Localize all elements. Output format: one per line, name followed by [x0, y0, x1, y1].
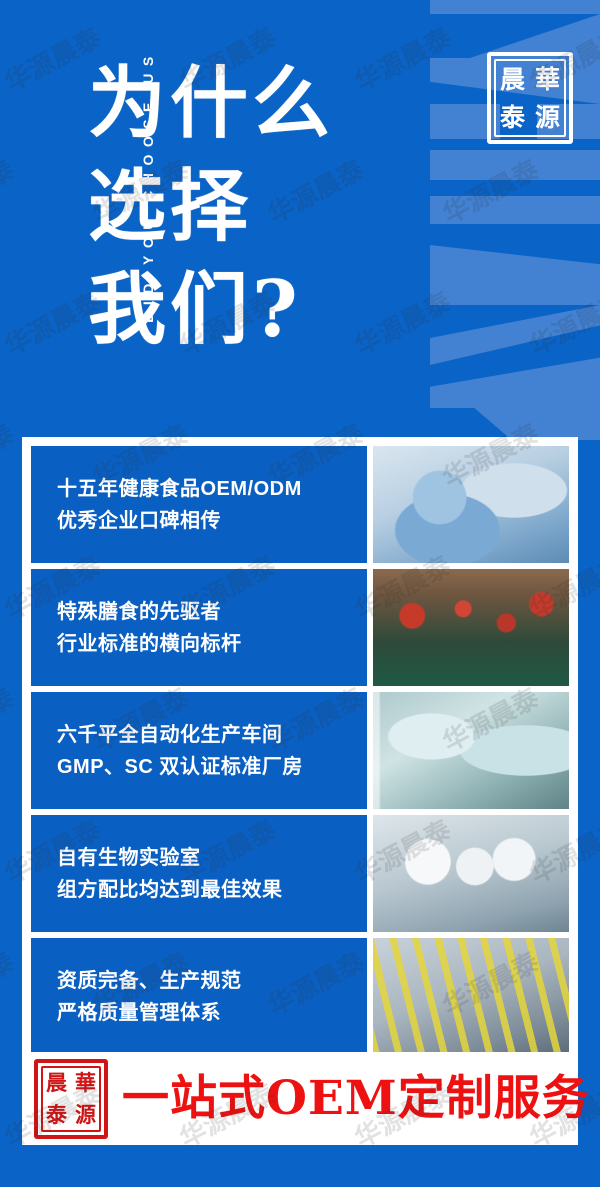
seal-char-1: 華: [71, 1067, 100, 1099]
feature-row: 十五年健康食品OEM/ODM 优秀企业口碑相传: [31, 446, 569, 563]
title-line-3: 我们?: [88, 258, 398, 361]
seal-char-3: 源: [71, 1099, 100, 1131]
feature-line: 组方配比均达到最佳效果: [57, 874, 367, 906]
feature-row: 自有生物实验室 组方配比均达到最佳效果: [31, 815, 569, 932]
feature-line: 六千平全自动化生产车间: [57, 719, 367, 751]
feature-list-frame: 十五年健康食品OEM/ODM 优秀企业口碑相传 特殊膳食的先驱者 行业标准的横向…: [22, 437, 578, 1145]
feature-photo-packaging-machine: [373, 938, 569, 1055]
seal-char-2: 晨: [42, 1067, 71, 1099]
feature-photo-production-line: [373, 815, 569, 932]
feature-line: 严格质量管理体系: [57, 997, 367, 1029]
feature-photo-cleanroom: [373, 692, 569, 809]
seal-char-1: 華: [530, 60, 565, 98]
feature-row: 特殊膳食的先驱者 行业标准的横向标杆: [31, 569, 569, 686]
banner-slogan: 一站式OEM定制服务: [122, 1075, 590, 1122]
watermark-text: 华源晨泰: [0, 678, 20, 760]
seal-char-4: 泰: [42, 1099, 71, 1131]
feature-text-block: 六千平全自动化生产车间 GMP、SC 双认证标准厂房: [31, 692, 367, 809]
feature-text-block: 自有生物实验室 组方配比均达到最佳效果: [31, 815, 367, 932]
seal-char-4: 泰: [495, 98, 530, 136]
vertical-english-subtitle: DID YOU CHOOSE US: [140, 0, 156, 386]
seal-char-2: 晨: [495, 60, 530, 98]
feature-list: 十五年健康食品OEM/ODM 优秀企业口碑相传 特殊膳食的先驱者 行业标准的横向…: [31, 446, 569, 1055]
feature-row: 资质完备、生产规范 严格质量管理体系: [31, 938, 569, 1055]
bottom-banner: 華 晨 源 泰 一站式OEM定制服务: [22, 1052, 578, 1145]
title-line-1: 为什么: [88, 52, 398, 155]
feature-text-block: 特殊膳食的先驱者 行业标准的横向标杆: [31, 569, 367, 686]
watermark-text: 华源晨泰: [0, 942, 20, 1024]
page-title: 为什么 选择 我们?: [88, 52, 398, 361]
feature-line: 十五年健康食品OEM/ODM: [57, 473, 367, 505]
feature-line: 优秀企业口碑相传: [57, 505, 367, 537]
feature-line: 特殊膳食的先驱者: [57, 596, 367, 628]
seal-char-3: 源: [530, 98, 565, 136]
feature-text-block: 十五年健康食品OEM/ODM 优秀企业口碑相传: [31, 446, 367, 563]
feature-line: 资质完备、生产规范: [57, 965, 367, 997]
company-seal-logo-red: 華 晨 源 泰: [34, 1059, 108, 1139]
company-seal-logo-white: 華 晨 源 泰: [487, 52, 573, 144]
feature-photo-lab-technician: [373, 446, 569, 563]
feature-photo-conference: [373, 569, 569, 686]
watermark-text: 华源晨泰: [0, 414, 20, 496]
feature-line: 自有生物实验室: [57, 842, 367, 874]
promotional-poster: 为什么 选择 我们? DID YOU CHOOSE US 華 晨 源 泰 十五年…: [0, 0, 600, 1187]
feature-text-block: 资质完备、生产规范 严格质量管理体系: [31, 938, 367, 1055]
title-line-2: 选择: [88, 155, 398, 258]
feature-row: 六千平全自动化生产车间 GMP、SC 双认证标准厂房: [31, 692, 569, 809]
feature-line: 行业标准的横向标杆: [57, 628, 367, 660]
watermark-text: 华源晨泰: [0, 150, 20, 232]
feature-line: GMP、SC 双认证标准厂房: [57, 751, 367, 783]
